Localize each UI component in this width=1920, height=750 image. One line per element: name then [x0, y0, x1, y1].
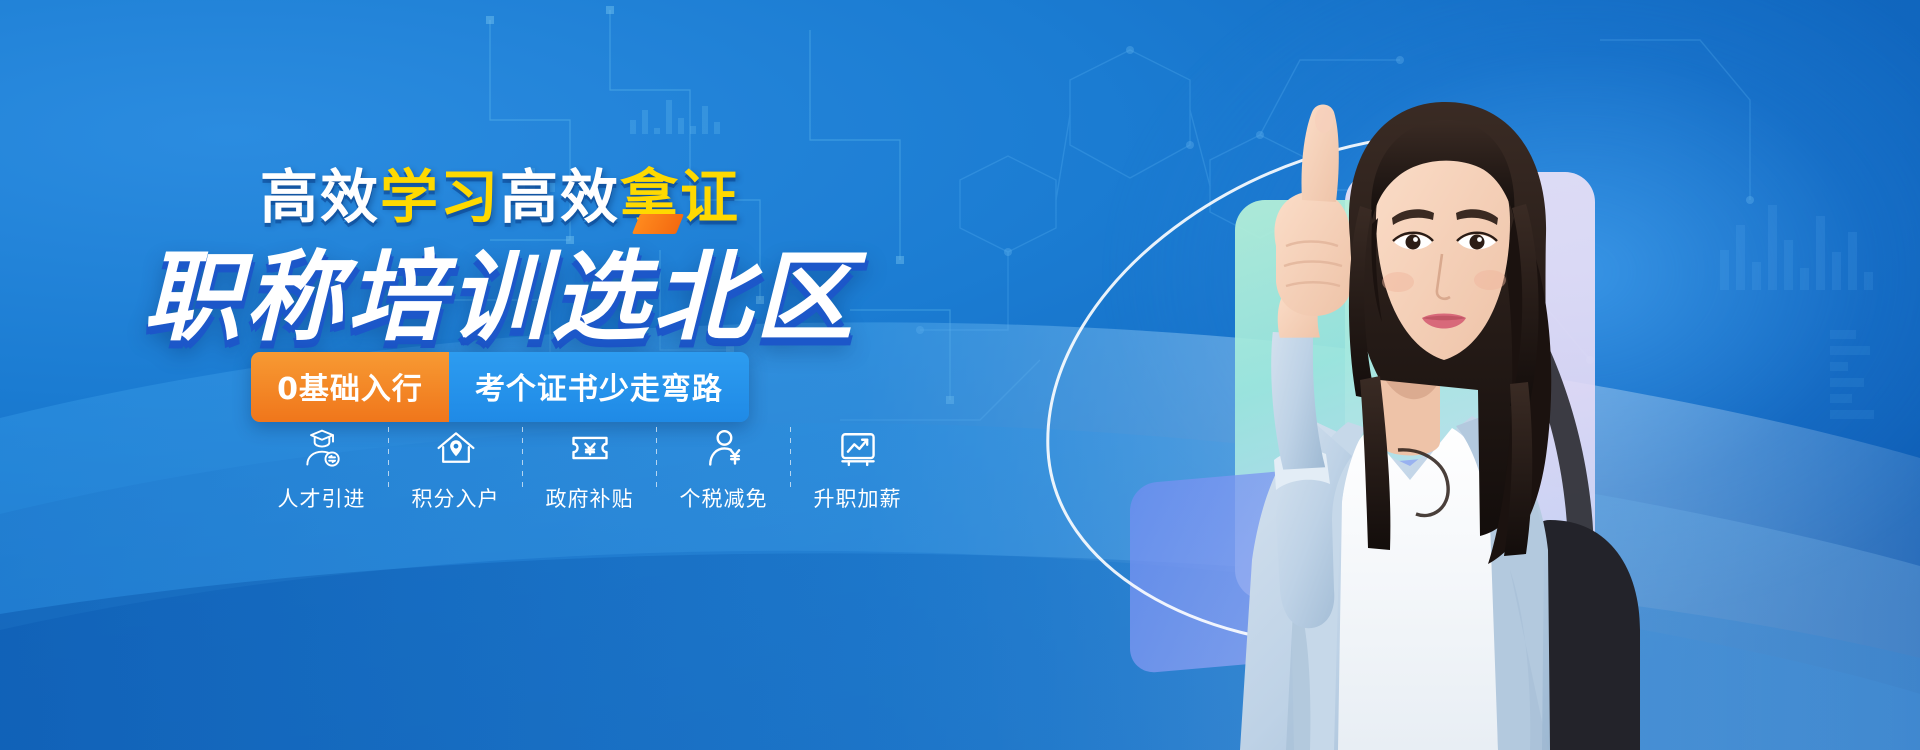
subtitle-row: 0基础入行 考个证书少走弯路 [0, 352, 1000, 422]
feature-label-subsidy: 政府补贴 [546, 483, 634, 513]
feature-label-residency: 积分入户 [412, 483, 500, 513]
chart-board-icon [836, 425, 880, 471]
promo-banner: 高效学习高效拿证 职称培训选北区 0基础入行 考个证书少走弯路 [0, 0, 1920, 750]
subtitle-badge: 0基础入行 [251, 352, 449, 422]
feature-item-residency[interactable]: 积分入户 [389, 425, 522, 513]
subtitle-text: 考个证书少走弯路 [449, 352, 749, 422]
coupon-yuan-icon [568, 425, 612, 471]
banner-text-block: 高效学习高效拿证 职称培训选北区 0基础入行 考个证书少走弯路 [0, 0, 1060, 750]
feature-item-tax[interactable]: 个税减免 [657, 425, 790, 513]
feature-list: 人才引进 积分入户 [255, 425, 924, 513]
house-pin-icon [434, 425, 478, 471]
feature-label-promotion: 升职加薪 [814, 483, 902, 513]
feature-item-promotion[interactable]: 升职加薪 [791, 425, 924, 513]
graduate-person-icon [300, 425, 344, 471]
feature-item-subsidy[interactable]: 政府补贴 [523, 425, 656, 513]
feature-item-talent[interactable]: 人才引进 [255, 425, 388, 513]
orange-accent-stroke [632, 214, 684, 234]
headline-main: 职称培训选北区 [143, 218, 857, 360]
woman-pointing-up-photo [1080, 50, 1720, 750]
subtitle-pill: 0基础入行 考个证书少走弯路 [251, 352, 749, 422]
feature-label-talent: 人才引进 [278, 483, 366, 513]
headline-main-wrap: 职称培训选北区 [0, 218, 1000, 360]
person-yuan-icon [702, 425, 746, 471]
feature-label-tax: 个税减免 [680, 483, 768, 513]
